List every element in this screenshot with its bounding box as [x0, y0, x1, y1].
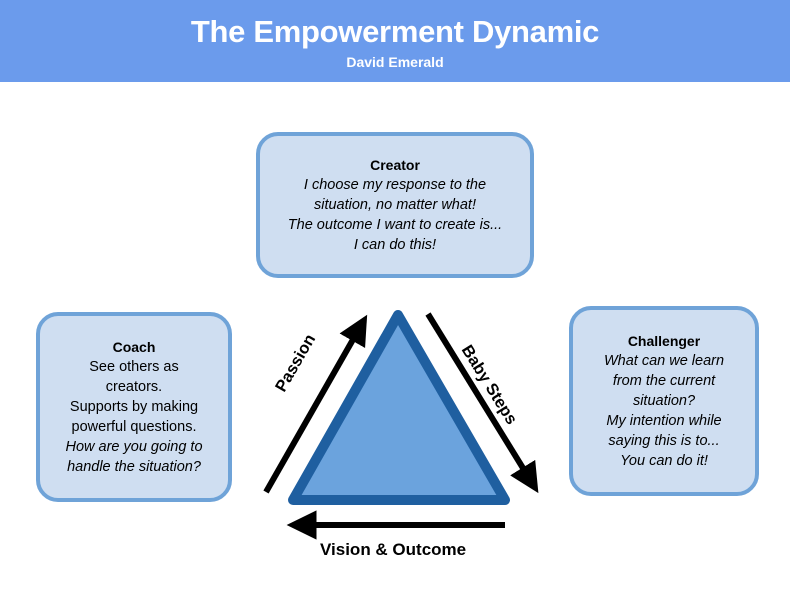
role-line: See others as	[65, 357, 202, 377]
role-body-challenger: What can we learn from the current situa…	[604, 351, 724, 471]
author-subtitle: David Emerald	[0, 53, 790, 71]
role-line: powerful questions.	[65, 417, 202, 437]
role-line: You can do it!	[604, 451, 724, 471]
role-body-coach: See others as creators. Supports by maki…	[65, 357, 202, 477]
page-title: The Empowerment Dynamic	[0, 13, 790, 51]
role-line: What can we learn	[604, 351, 724, 371]
role-box-challenger[interactable]: Challenger What can we learn from the cu…	[569, 306, 759, 496]
header-banner: The Empowerment Dynamic David Emerald	[0, 0, 790, 82]
role-box-coach[interactable]: Coach See others as creators. Supports b…	[36, 312, 232, 502]
role-title-coach: Coach	[113, 337, 156, 357]
slide-canvas: The Empowerment Dynamic David Emerald Cr…	[0, 0, 790, 597]
role-line: creators.	[65, 377, 202, 397]
role-line: The outcome I want to create is...	[288, 215, 502, 235]
role-line: How are you going to	[65, 437, 202, 457]
role-body-creator: I choose my response to the situation, n…	[288, 175, 502, 255]
role-line: situation, no matter what!	[288, 195, 502, 215]
role-line: My intention while	[604, 411, 724, 431]
role-line: I choose my response to the	[288, 175, 502, 195]
role-line: Supports by making	[65, 397, 202, 417]
dynamic-cycle-diagram: Passion Baby Steps Vision & Outcome	[250, 300, 550, 580]
role-line: I can do this!	[288, 235, 502, 255]
role-line: saying this is to...	[604, 431, 724, 451]
role-title-challenger: Challenger	[628, 331, 700, 351]
role-line: from the current	[604, 371, 724, 391]
role-title-creator: Creator	[370, 155, 420, 175]
vision-outcome-arrow-label: Vision & Outcome	[320, 540, 466, 560]
role-line: handle the situation?	[65, 457, 202, 477]
role-line: situation?	[604, 391, 724, 411]
role-box-creator[interactable]: Creator I choose my response to the situ…	[256, 132, 534, 278]
